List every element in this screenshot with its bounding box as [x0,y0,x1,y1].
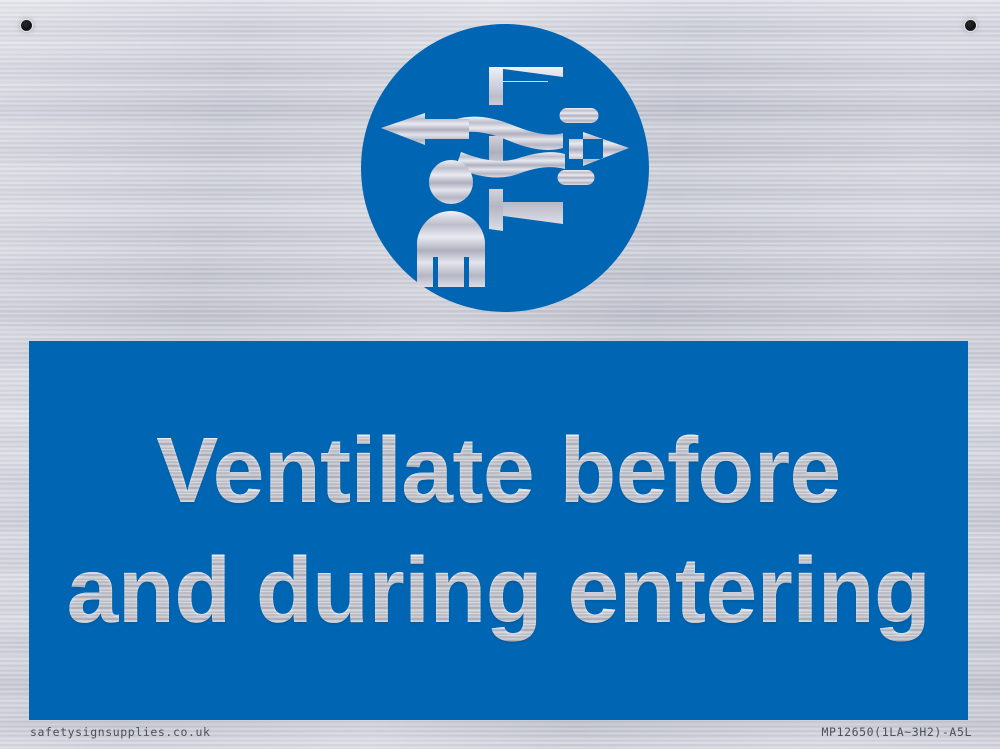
door-frame-left-post-icon [489,67,503,231]
ventilate-before-entering-pictogram [361,24,649,312]
footer-website: safetysignsupplies.co.uk [30,725,211,739]
arrow-right-dash-top-icon [560,108,599,123]
arrow-right-dash-bottom-icon [558,170,595,185]
banner-line-1: Ventilate before [156,416,841,526]
person-head-icon [429,160,473,204]
mounting-hole-top-left [21,20,32,31]
mounting-hole-top-right [965,20,976,31]
person-body-icon [417,211,485,287]
banner-line-2: and during entering [67,536,931,646]
footer-product-code: MP12650(1LA~3H2)-A5L [822,725,972,739]
safety-sign: Ventilate before and during entering saf… [0,0,1000,749]
message-banner: Ventilate before and during entering [29,341,968,720]
